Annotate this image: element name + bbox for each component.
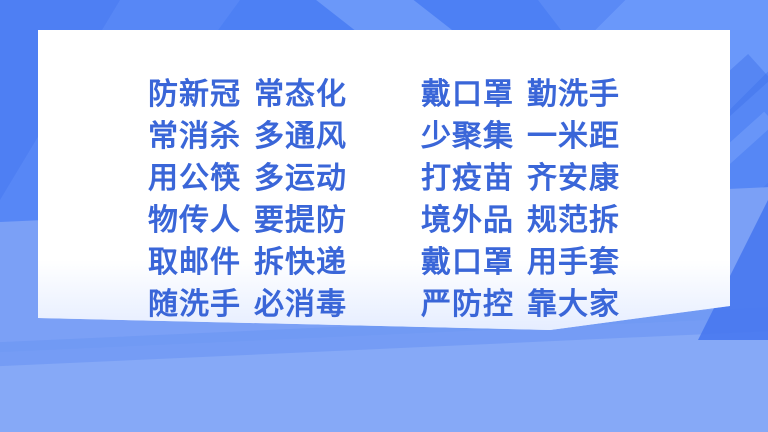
slogan-phrase-first: 打疫苗 (421, 160, 514, 197)
slogan-phrase-first: 境外品 (421, 202, 514, 239)
slogan-phrase-second: 常态化 (254, 76, 347, 113)
slogan-phrase-first: 戴口罩 (421, 76, 514, 113)
slogan-line: 严防控靠大家 (421, 286, 620, 323)
slogan-block: 防新冠常态化 常消杀多通风 用公筷多运动 物传人要提防 取邮件拆快递 随洗手必消… (38, 30, 730, 330)
slogan-phrase-second: 多通风 (254, 118, 347, 155)
slogan-phrase-first: 严防控 (421, 286, 514, 323)
slogan-column-right: 戴口罩勤洗手 少聚集一米距 打疫苗齐安康 境外品规范拆 戴口罩用手套 严防控靠大… (421, 76, 620, 330)
slogan-phrase-first: 常消杀 (148, 118, 241, 155)
slogan-line: 防新冠常态化 (148, 76, 347, 113)
poster-canvas: 防新冠常态化 常消杀多通风 用公筷多运动 物传人要提防 取邮件拆快递 随洗手必消… (0, 0, 768, 432)
slogan-column-left: 防新冠常态化 常消杀多通风 用公筷多运动 物传人要提防 取邮件拆快递 随洗手必消… (148, 76, 347, 330)
slogan-line: 打疫苗齐安康 (421, 160, 620, 197)
slogan-phrase-second: 用手套 (527, 244, 620, 281)
slogan-line: 戴口罩用手套 (421, 244, 620, 281)
slogan-line: 常消杀多通风 (148, 118, 347, 155)
slogan-phrase-first: 少聚集 (421, 118, 514, 155)
slogan-line: 用公筷多运动 (148, 160, 347, 197)
slogan-phrase-second: 靠大家 (527, 286, 620, 323)
slogan-phrase-first: 戴口罩 (421, 244, 514, 281)
slogan-phrase-first: 物传人 (148, 202, 241, 239)
slogan-line: 随洗手必消毒 (148, 286, 347, 323)
slogan-line: 取邮件拆快递 (148, 244, 347, 281)
slogan-line: 境外品规范拆 (421, 202, 620, 239)
slogan-phrase-second: 多运动 (254, 160, 347, 197)
slogan-phrase-second: 齐安康 (527, 160, 620, 197)
slogan-phrase-first: 用公筷 (148, 160, 241, 197)
slogan-line: 物传人要提防 (148, 202, 347, 239)
slogan-phrase-first: 防新冠 (148, 76, 241, 113)
slogan-phrase-second: 必消毒 (254, 286, 347, 323)
slogan-phrase-first: 随洗手 (148, 286, 241, 323)
slogan-phrase-second: 勤洗手 (527, 76, 620, 113)
slogan-phrase-second: 一米距 (527, 118, 620, 155)
slogan-phrase-first: 取邮件 (148, 244, 241, 281)
slogan-line: 戴口罩勤洗手 (421, 76, 620, 113)
slogan-phrase-second: 规范拆 (527, 202, 620, 239)
slogan-phrase-second: 拆快递 (254, 244, 347, 281)
slogan-phrase-second: 要提防 (254, 202, 347, 239)
slogan-line: 少聚集一米距 (421, 118, 620, 155)
